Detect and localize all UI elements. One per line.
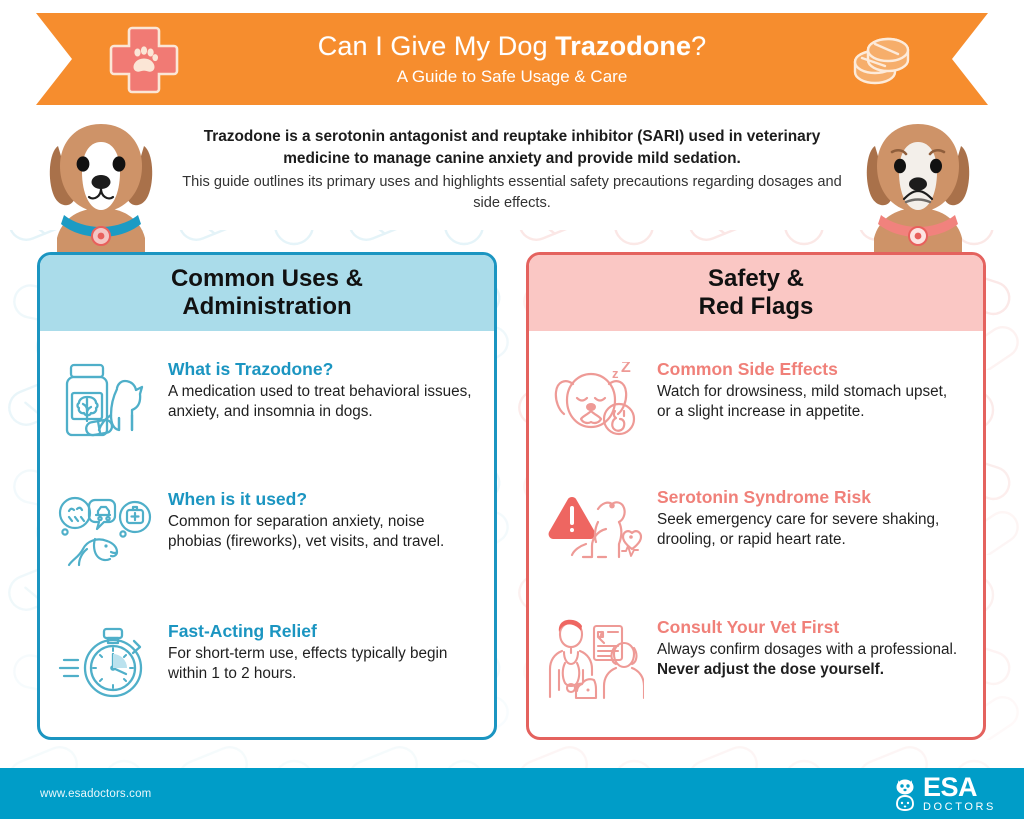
card-header-common-uses: Common Uses & Administration — [40, 255, 494, 331]
list-item-desc: A medication used to treat behavioral is… — [168, 382, 476, 423]
intro-lead: Trazodone is a serotonin antagonist and … — [170, 126, 854, 170]
list-item: z Z Common Side Effects Watch for drowsi… — [543, 355, 965, 447]
list-item-text: Common Side Effects Watch for drowsiness… — [657, 355, 965, 423]
worried-dog-pink-collar-illustration — [850, 112, 986, 254]
list-item-desc: Seek emergency care for severe shaking, … — [657, 510, 965, 551]
logo-primary-text: ESA — [923, 774, 996, 801]
esa-dog-logo-icon — [894, 777, 920, 811]
list-item-title: When is it used? — [168, 489, 476, 510]
list-item-title: What is Trazodone? — [168, 359, 476, 380]
list-item-text: What is Trazodone? A medication used to … — [168, 355, 476, 423]
list-item: Consult Your Vet First Always confirm do… — [543, 613, 965, 705]
card-header-safety-red-flags: Safety & Red Flags — [529, 255, 983, 331]
card-safety-red-flags: Safety & Red Flags — [526, 252, 986, 740]
infographic-page: Can I Give My Dog Trazodone? A Guide to … — [0, 0, 1024, 819]
card-title-line1: Safety & — [708, 265, 804, 292]
list-item-text: Serotonin Syndrome Risk Seek emergency c… — [657, 483, 965, 551]
list-item-desc-bold: Never adjust the dose yourself. — [657, 661, 884, 678]
pill-bottle-brain-dog-icon — [54, 355, 158, 447]
list-item: When is it used? Common for separation a… — [54, 485, 476, 577]
intro-body: This guide outlines its primary uses and… — [170, 172, 854, 214]
list-item-desc-plain: Always confirm dosages with a profession… — [657, 641, 957, 658]
card-body-safety-red-flags: z Z Common Side Effects Watch for drowsi… — [529, 331, 983, 715]
list-item-text: Fast-Acting Relief For short-term use, e… — [168, 617, 476, 685]
logo-secondary-text: DOCTORS — [923, 802, 996, 813]
sleeping-dog-stomach-icon: z Z — [543, 355, 647, 447]
list-item-desc: Always confirm dosages with a profession… — [657, 640, 965, 681]
list-item-desc: Watch for drowsiness, mild stomach upset… — [657, 382, 965, 423]
esa-doctors-logo[interactable]: ESA DOCTORS — [894, 774, 996, 813]
list-item: Fast-Acting Relief For short-term use, e… — [54, 617, 476, 709]
list-item-title: Fast-Acting Relief — [168, 621, 476, 642]
card-title-line2: Red Flags — [699, 293, 814, 320]
stopwatch-icon — [54, 617, 158, 709]
list-item-text: Consult Your Vet First Always confirm do… — [657, 613, 965, 681]
list-item-title: Serotonin Syndrome Risk — [657, 487, 965, 508]
list-item-desc: Common for separation anxiety, noise pho… — [168, 512, 476, 553]
footer-bar: www.esadoctors.com — [0, 768, 1024, 819]
list-item-title: Common Side Effects — [657, 359, 965, 380]
card-common-uses: Common Uses & Administration — [37, 252, 497, 740]
list-item-desc: For short-term use, effects typically be… — [168, 644, 476, 685]
card-title-line1: Common Uses & — [171, 265, 363, 292]
vet-prescription-icon — [543, 613, 647, 705]
card-title-line2: Administration — [182, 293, 351, 320]
svg-text:Z: Z — [621, 362, 631, 376]
list-item: What is Trazodone? A medication used to … — [54, 355, 476, 447]
card-body-common-uses: What is Trazodone? A medication used to … — [40, 331, 494, 719]
paw-medical-cross-icon — [108, 25, 180, 95]
footer-website-url[interactable]: www.esadoctors.com — [40, 788, 151, 800]
list-item-title: Consult Your Vet First — [657, 617, 965, 638]
list-item-text: When is it used? Common for separation a… — [168, 485, 476, 553]
dog-thought-bubbles-icon — [54, 485, 158, 577]
happy-dog-blue-collar-illustration — [36, 112, 166, 254]
list-item: Serotonin Syndrome Risk Seek emergency c… — [543, 483, 965, 575]
two-pills-icon — [843, 32, 919, 94]
warning-dog-heartrate-icon — [543, 483, 647, 575]
svg-text:z: z — [612, 366, 619, 381]
intro-block: Trazodone is a serotonin antagonist and … — [170, 126, 854, 214]
